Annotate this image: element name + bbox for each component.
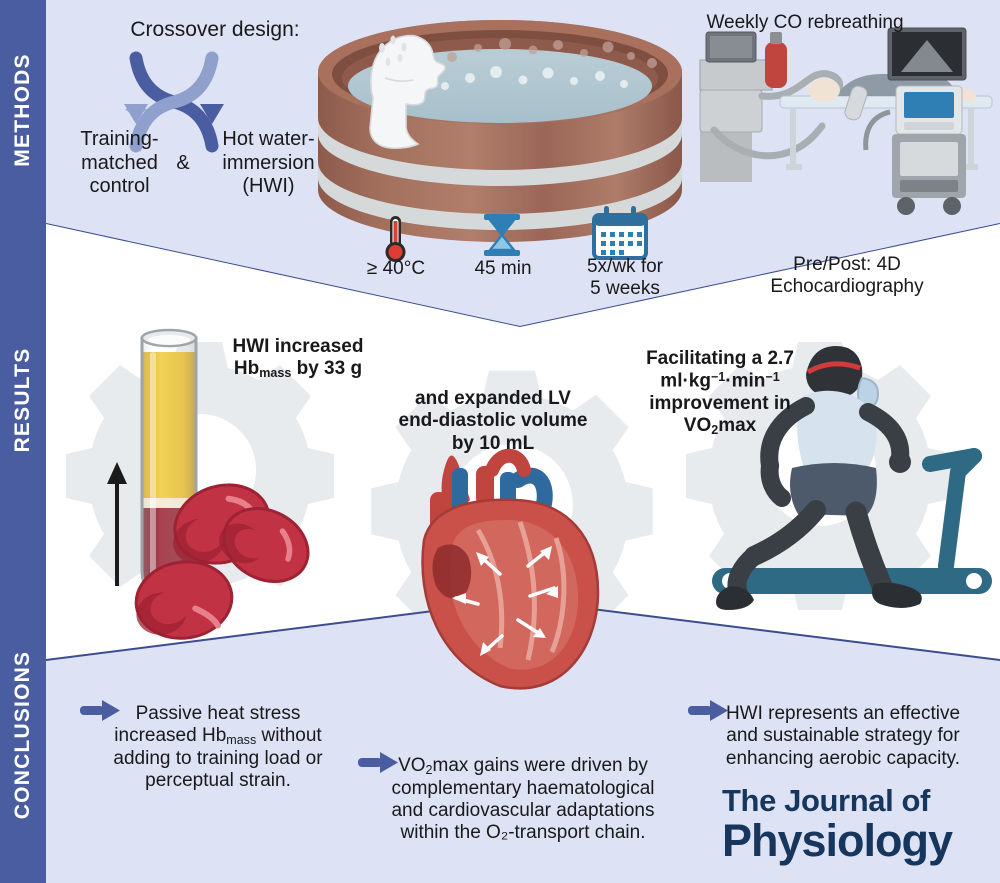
result-vo2-unit-mid: ·min — [725, 371, 765, 392]
journal-logo-line2: Physiology — [722, 818, 952, 863]
conclusion-item-2: VO2max gains were driven by complementar… — [388, 755, 658, 845]
section-sidebar: METHODS RESULTS CONCLUSIONS — [0, 0, 46, 883]
result-vo2-line3: improvement in — [649, 393, 790, 414]
conclusion-item-1: Passive heat stress increased Hbmass wit… — [108, 703, 328, 793]
journal-logo-line1: The Journal of — [722, 785, 952, 816]
result-vo2-post: max — [718, 415, 756, 436]
conclusion-1-sub: mass — [226, 733, 256, 747]
result-vo2-line1: Facilitating a 2.7 — [646, 348, 794, 369]
arm-label-control: Training- matched control — [52, 128, 187, 199]
result-lv-label: and expanded LV end-diastolic volume by … — [398, 388, 588, 455]
result-vo2-base: VO — [684, 415, 711, 436]
result-vo2-unit-base: ml·kg — [660, 371, 711, 392]
echocardiography-label: Pre/Post: 4D Echocardiography — [752, 254, 942, 299]
result-hbmass-pre: HWI increased — [233, 336, 364, 357]
protocol-frequency-label: 5x/wk for 5 weeks — [562, 256, 688, 301]
sidebar-label-methods: METHODS — [11, 53, 35, 166]
result-vo2-unit-sup2: −1 — [765, 370, 779, 384]
result-hbmass-sub: mass — [259, 366, 291, 380]
hot-tub-icon — [318, 20, 682, 242]
protocol-temperature-label: ≥ 40°C — [348, 258, 444, 280]
sidebar-label-conclusions: CONCLUSIONS — [11, 651, 35, 819]
graphical-abstract: METHODS RESULTS CONCLUSIONS Crossover de… — [0, 0, 1000, 883]
co-rebreathing-label: Weekly CO rebreathing — [680, 12, 930, 34]
conclusion-item-3: HWI represents an effective and sustaina… — [718, 703, 968, 770]
conclusion-1-sub-base: Hb — [202, 725, 226, 746]
crossover-design-title: Crossover design: — [90, 18, 340, 43]
protocol-duration-label: 45 min — [455, 258, 551, 280]
calendar-icon — [594, 206, 646, 258]
conclusion-2-sub: 2 — [426, 763, 433, 777]
result-hbmass-label: HWI increased Hbmass by 33 g — [198, 336, 398, 381]
conclusion-3-part-a: HWI represents an effective and sustaina… — [726, 703, 960, 769]
result-vo2max-label: Facilitating a 2.7 ml·kg−1·min−1 improve… — [630, 348, 810, 438]
conclusion-2-sub-base: VO — [398, 755, 425, 776]
result-hbmass-post: by 33 g — [291, 358, 362, 379]
arm-label-hwi: Hot water- immersion (HWI) — [196, 128, 341, 199]
arm-ampersand: & — [168, 152, 198, 176]
result-hbmass-base: Hb — [234, 358, 259, 379]
result-vo2-unit-sup1: −1 — [711, 370, 725, 384]
sidebar-label-results: RESULTS — [11, 348, 35, 453]
journal-logo: The Journal of Physiology — [722, 785, 952, 863]
